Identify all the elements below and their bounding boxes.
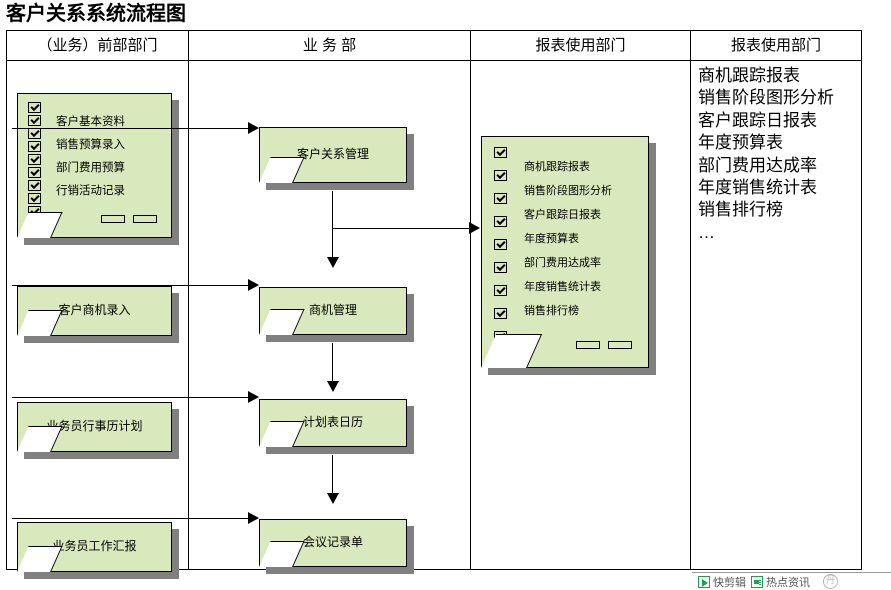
node-customer-opportunity-entry[interactable]: 客户商机录入 bbox=[17, 286, 172, 336]
folded-corner-icon bbox=[17, 212, 63, 238]
check-icon bbox=[28, 115, 41, 126]
check-icon bbox=[494, 308, 507, 319]
node-plan-calendar[interactable]: 计划表日历 bbox=[259, 399, 407, 447]
connector-line-input-to-crm bbox=[12, 128, 252, 129]
lane-report-users: 商机跟踪报表 销售阶段图形分析 客户跟踪日报表 年度预算表 部门费用达成率 年度… bbox=[471, 61, 691, 569]
document-body: 客户商机录入 bbox=[17, 286, 172, 336]
node-crm-management[interactable]: 客户关系管理 bbox=[259, 127, 407, 183]
lane-header-row: （业务）前部部门 业 务 部 报表使用部门 报表使用部门 bbox=[7, 31, 861, 61]
mini-button[interactable] bbox=[101, 215, 125, 223]
lane-business-dept: 客户关系管理 商机管理 计划表日历 bbox=[189, 61, 471, 569]
list-item: 商机跟踪报表 bbox=[698, 65, 859, 87]
report-name-list: 商机跟踪报表 销售阶段图形分析 客户跟踪日报表 年度预算表 部门费用达成率 年度… bbox=[698, 65, 859, 244]
document-line: 行销活动记录 bbox=[56, 180, 125, 203]
check-icon bbox=[28, 141, 41, 152]
lane-header-front-office: （业务）前部部门 bbox=[7, 31, 189, 60]
node-meeting-record[interactable]: 会议记录单 bbox=[259, 519, 407, 567]
list-item: 客户跟踪日报表 bbox=[698, 110, 859, 132]
connector-line-entry-to-opportunity bbox=[12, 285, 252, 286]
mini-button[interactable] bbox=[608, 341, 632, 349]
tray-item-quick-edit[interactable]: 快剪辑 bbox=[698, 574, 746, 590]
lane-report-list: 商机跟踪报表 销售阶段图形分析 客户跟踪日报表 年度预算表 部门费用达成率 年度… bbox=[691, 61, 861, 569]
list-item: 年度销售统计表 bbox=[698, 177, 859, 199]
document-line: 销售阶段图形分析 bbox=[524, 179, 612, 203]
check-icon bbox=[28, 180, 41, 191]
document-body: 会议记录单 bbox=[259, 519, 407, 567]
document-body: 商机跟踪报表 销售阶段图形分析 客户跟踪日报表 年度预算表 部门费用达成率 年度… bbox=[481, 136, 649, 368]
check-icon bbox=[494, 170, 507, 181]
input-collection-document[interactable]: 客户基本资料 销售预算录入 部门费用预算 行销活动记录 bbox=[17, 93, 172, 238]
mini-button[interactable] bbox=[133, 215, 157, 223]
checkbox-column bbox=[28, 102, 41, 217]
node-opportunity-management[interactable]: 商机管理 bbox=[259, 287, 407, 335]
swimlane-diagram: （业务）前部部门 业 务 部 报表使用部门 报表使用部门 bbox=[6, 30, 862, 570]
connector-arrow-right bbox=[248, 279, 259, 291]
lane-header-report-users-list: 报表使用部门 bbox=[691, 31, 861, 60]
play-box-icon bbox=[698, 576, 710, 588]
document-line: 销售排行榜 bbox=[524, 299, 612, 323]
document-body: 客户基本资料 销售预算录入 部门费用预算 行销活动记录 bbox=[17, 93, 172, 238]
lane-body-row: 客户基本资料 销售预算录入 部门费用预算 行销活动记录 客户商机录入 bbox=[7, 61, 861, 569]
connector-arrow-down bbox=[327, 493, 339, 504]
lane-header-report-users: 报表使用部门 bbox=[471, 31, 691, 60]
tray-badge-icon[interactable]: 丹 bbox=[823, 574, 838, 589]
connector-line-vertical bbox=[332, 191, 333, 259]
document-line: 部门费用达成率 bbox=[524, 251, 612, 275]
document-line: 商机跟踪报表 bbox=[524, 155, 612, 179]
report-output-document[interactable]: 商机跟踪报表 销售阶段图形分析 客户跟踪日报表 年度预算表 部门费用达成率 年度… bbox=[481, 136, 649, 368]
connector-line-vertical bbox=[332, 455, 333, 495]
check-icon bbox=[494, 239, 507, 250]
check-icon bbox=[494, 262, 507, 273]
connector-arrow-right bbox=[248, 122, 259, 134]
page-title: 客户关系系统流程图 bbox=[6, 1, 186, 27]
lane-front-office: 客户基本资料 销售预算录入 部门费用预算 行销活动记录 客户商机录入 bbox=[7, 61, 189, 569]
document-line-list: 商机跟踪报表 销售阶段图形分析 客户跟踪日报表 年度预算表 部门费用达成率 年度… bbox=[524, 155, 612, 323]
mini-button[interactable] bbox=[576, 341, 600, 349]
connector-arrow-down bbox=[327, 381, 339, 392]
document-line: 部门费用预算 bbox=[56, 157, 125, 180]
connector-line-horizontal bbox=[332, 228, 471, 229]
connector-arrow-right bbox=[248, 391, 259, 403]
checkbox-column bbox=[494, 147, 507, 342]
document-line: 年度销售统计表 bbox=[524, 275, 612, 299]
document-line: 销售预算录入 bbox=[56, 134, 125, 157]
document-line: 客户跟踪日报表 bbox=[524, 203, 612, 227]
check-icon bbox=[494, 285, 507, 296]
connector-arrow-down bbox=[327, 257, 339, 268]
document-line: 客户基本资料 bbox=[56, 111, 125, 134]
list-item: 部门费用达成率 bbox=[698, 155, 859, 177]
check-icon bbox=[28, 102, 41, 113]
connector-arrow-right bbox=[248, 512, 259, 524]
taskbar-tray: 快剪辑 热点资讯 丹 bbox=[692, 572, 891, 590]
tray-item-hot-news[interactable]: 热点资讯 bbox=[751, 574, 810, 590]
document-body: 客户关系管理 bbox=[259, 127, 407, 183]
lane-header-business-dept: 业 务 部 bbox=[189, 31, 471, 60]
connector-line-vertical bbox=[332, 343, 333, 383]
tray-item-label: 快剪辑 bbox=[713, 574, 746, 590]
list-item: 年度预算表 bbox=[698, 132, 859, 154]
check-icon bbox=[494, 216, 507, 227]
document-body: 业务员行事历计划 bbox=[17, 402, 172, 452]
list-item: 销售阶段图形分析 bbox=[698, 87, 859, 109]
document-button-pair bbox=[101, 215, 157, 223]
document-button-pair bbox=[576, 341, 632, 349]
folded-corner-icon bbox=[481, 334, 542, 368]
document-body: 商机管理 bbox=[259, 287, 407, 335]
tray-item-label: 热点资讯 bbox=[766, 574, 810, 590]
check-icon bbox=[28, 167, 41, 178]
connector-line-plan-to-calendar bbox=[12, 397, 252, 398]
list-item: … bbox=[698, 222, 859, 244]
document-body: 计划表日历 bbox=[259, 399, 407, 447]
news-monitor-icon bbox=[751, 576, 763, 588]
node-salesperson-work-report[interactable]: 业务员工作汇报 bbox=[17, 522, 172, 572]
check-icon bbox=[28, 128, 41, 139]
node-salesperson-calendar-plan[interactable]: 业务员行事历计划 bbox=[17, 402, 172, 452]
connector-line-report-to-meeting bbox=[12, 518, 252, 519]
connector-arrow-right bbox=[469, 222, 480, 234]
check-icon bbox=[494, 193, 507, 204]
list-item: 销售排行榜 bbox=[698, 199, 859, 221]
document-line-list: 客户基本资料 销售预算录入 部门费用预算 行销活动记录 bbox=[56, 111, 125, 203]
document-body: 业务员工作汇报 bbox=[17, 522, 172, 572]
check-icon bbox=[28, 154, 41, 165]
check-icon bbox=[494, 147, 507, 158]
check-icon bbox=[28, 193, 41, 204]
document-line: 年度预算表 bbox=[524, 227, 612, 251]
